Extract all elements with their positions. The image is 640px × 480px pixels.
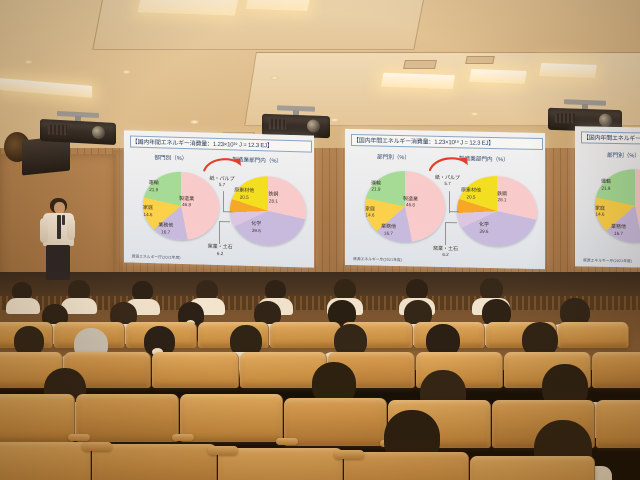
auditorium-seat xyxy=(0,394,75,442)
ceiling-light-panel xyxy=(469,69,527,84)
auditorium-seat xyxy=(180,394,283,442)
downlight xyxy=(330,118,339,122)
auditorium-seat xyxy=(0,442,91,480)
pie-label-chemical: 化学 39.6 xyxy=(251,222,261,233)
presenter-arm-right xyxy=(67,218,75,240)
auditorium-seat xyxy=(470,456,595,480)
leader-line xyxy=(449,211,459,212)
projection-screen-center: 【国内年間エネルギー消費量：1.23×10¹⁹ J = 12.3 EJ】 部門別… xyxy=(345,129,545,269)
downlight xyxy=(270,76,279,80)
auditorium-seat xyxy=(284,398,387,446)
projector-vent xyxy=(48,124,68,135)
pie-label-ceramics: 窯業・土石 6.2 xyxy=(433,246,458,257)
pie-label-paper-pulp: 紙・パルプ 5.7 xyxy=(210,176,235,187)
ceiling-light-panel xyxy=(539,63,597,78)
projector-vent xyxy=(269,119,287,130)
leader-line xyxy=(223,211,233,212)
pie-label-manufacturing: 製造業 46.8 xyxy=(403,197,418,208)
seat-armrest xyxy=(334,450,364,459)
downlight xyxy=(122,70,131,74)
slide-left: 【国内年間エネルギー消費量：1.23×10¹⁹ J = 12.3 EJ】 部門別… xyxy=(124,130,314,267)
auditorium-seat xyxy=(270,322,341,348)
attendee-head xyxy=(334,279,356,300)
seat-armrest xyxy=(82,442,112,451)
presenter-trousers xyxy=(46,245,70,280)
pie-label-commercial: 業務他 16.7 xyxy=(611,225,626,236)
ceiling-vent xyxy=(465,56,495,64)
auditorium-seat xyxy=(558,322,629,348)
attendee-shoulders xyxy=(6,298,40,314)
attendee-head xyxy=(265,280,286,300)
slide-title: 【国内年間エネルギー消費量：1.23×10¹⁹ J = 12.3 EJ】 xyxy=(130,135,313,152)
auditorium-seat xyxy=(596,400,640,448)
lecture-hall-photo: 【国内年間エネルギー消費量：1.23×10¹⁹ J = 12.3 EJ】 部門別… xyxy=(0,0,640,480)
pie-label-transport: 運輸 21.9 xyxy=(371,181,381,192)
pie-left-header: 部門別（%） xyxy=(607,151,640,160)
leader-line xyxy=(223,191,224,212)
projection-screen-left: 【国内年間エネルギー消費量：1.23×10¹⁹ J = 12.3 EJ】 部門別… xyxy=(124,130,314,267)
pie-label-household: 家庭 14.6 xyxy=(595,206,605,217)
pie-label-steel: 鉄鋼 28.1 xyxy=(268,192,278,203)
slide-footnote: 資源エネルギー庁(2021年度) xyxy=(132,255,181,261)
pie-label-transport: 運輸 21.9 xyxy=(149,181,159,192)
pie-label-transport: 運輸 21.9 xyxy=(601,180,611,191)
pie-chart-sectors xyxy=(230,176,306,247)
slide-footnote: 資源エネルギー庁(2021年度) xyxy=(353,257,402,263)
downlight xyxy=(24,60,33,64)
seat-armrest xyxy=(68,434,90,441)
projector-lens xyxy=(599,113,612,126)
auditorium-seat xyxy=(76,394,179,442)
ceiling-light-panel xyxy=(0,78,92,98)
pie-label-chemical: 化学 39.6 xyxy=(479,223,489,234)
pie-label-manufacturing: 製造業 46.8 xyxy=(179,197,194,208)
pie-label-raw-materials: 原素材他 20.5 xyxy=(234,189,254,200)
pie-left-header: 部門別（%） xyxy=(377,153,410,162)
leader-line xyxy=(445,222,446,245)
pie-left-header: 部門別（%） xyxy=(154,154,187,163)
auditorium-seat xyxy=(592,352,640,388)
pie-label-household: 家庭 14.6 xyxy=(143,206,153,217)
ceiling-vent xyxy=(403,60,437,69)
attendee-head xyxy=(132,281,153,301)
leader-line xyxy=(449,191,450,213)
slide-footnote: 資源エネルギー庁(2021年度) xyxy=(583,259,632,265)
connector-arrow xyxy=(198,155,247,175)
downlight xyxy=(190,120,199,124)
pie-label-household: 家庭 14.6 xyxy=(365,207,375,218)
auditorium-seat xyxy=(152,352,239,388)
pie-label-raw-materials: 原素材他 20.5 xyxy=(461,188,481,199)
handheld-microphone xyxy=(62,215,65,225)
projector-vent xyxy=(555,113,574,124)
attendee-head xyxy=(480,278,503,300)
seat-armrest xyxy=(208,446,238,455)
presenter xyxy=(38,198,82,280)
pie-label-commercial: 業務他 16.7 xyxy=(381,225,396,236)
pie-chart-sectors xyxy=(457,175,537,247)
slide-right: 【国内年間エネルギー消費量：1.23×10¹⁹ J = 12.3 EJ】 部門別… xyxy=(575,126,640,269)
presenter-arm-left xyxy=(40,218,48,243)
leader-line xyxy=(219,221,220,243)
pie-label-steel: 鉄鋼 28.1 xyxy=(497,192,507,203)
pie-label-commercial: 業務他 16.7 xyxy=(158,224,173,235)
leader-line xyxy=(219,221,230,222)
projector-left xyxy=(40,110,116,148)
slide-center: 【国内年間エネルギー消費量：1.23×10¹⁹ J = 12.3 EJ】 部門別… xyxy=(345,129,545,269)
projection-screen-right: 【国内年間エネルギー消費量：1.23×10¹⁹ J = 12.3 EJ】 部門別… xyxy=(575,126,640,269)
slide-title: 【国内年間エネルギー消費量：1.23×10¹⁹ J = 12.3 EJ】 xyxy=(351,134,543,150)
downlight xyxy=(470,112,479,116)
seat-armrest xyxy=(172,434,194,441)
connector-arrow xyxy=(423,154,475,174)
slide-title: 【国内年間エネルギー消費量：1.23×10¹⁹ J = 12.3 EJ】 xyxy=(581,131,640,147)
pie-label-paper-pulp: 紙・パルプ 5.7 xyxy=(435,176,460,187)
presenter-necktie xyxy=(57,215,61,239)
attendee-head xyxy=(406,279,428,300)
seat-armrest xyxy=(276,438,298,445)
ceiling-light-panel xyxy=(381,73,455,90)
pie-label-ceramics: 窯業・土石 6.2 xyxy=(208,245,233,256)
leader-line xyxy=(445,222,457,223)
